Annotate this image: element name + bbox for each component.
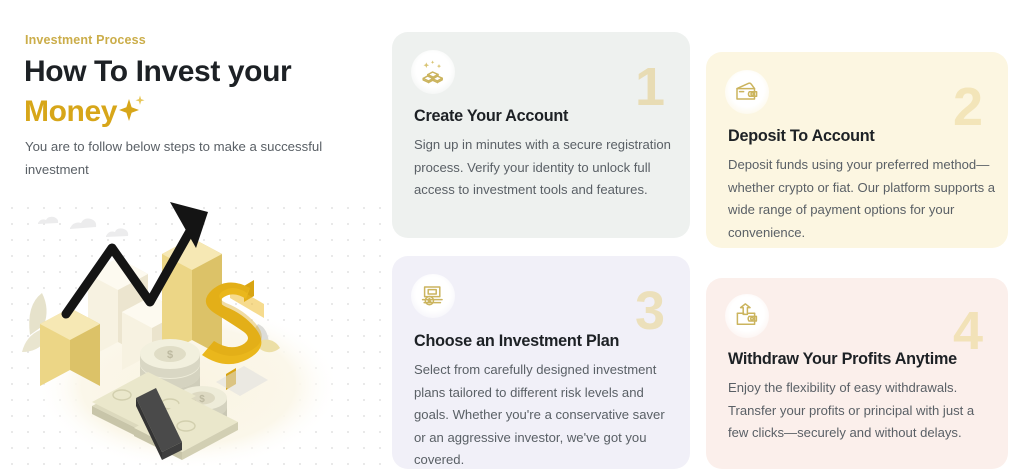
step-card-create-account[interactable]: 1 Create Your Account Sign up in minutes…	[392, 32, 690, 238]
step-number-badge: 2	[953, 80, 982, 134]
card-title: Choose an Investment Plan	[414, 332, 619, 351]
step-card-deposit-to-account[interactable]: 2 Deposit To Account Deposit funds using…	[706, 52, 1008, 248]
card-description: Sign up in minutes with a secure registr…	[414, 134, 672, 202]
card-description: Deposit funds using your preferred metho…	[728, 154, 996, 244]
card-description: Select from carefully designed investmen…	[414, 359, 678, 469]
card-title: Withdraw Your Profits Anytime	[728, 350, 957, 369]
svg-text:$: $	[167, 349, 173, 361]
step-card-withdraw-profits[interactable]: 4 Withdraw Your Profits Anytime Enjoy th…	[706, 278, 1008, 469]
wallet-icon	[725, 70, 769, 114]
step-number-badge: 1	[635, 60, 664, 114]
page-title: How To Invest your Money	[24, 52, 374, 131]
section-intro-column: Investment Process How To Invest your Mo…	[0, 0, 392, 469]
step-number-badge: 4	[953, 304, 982, 358]
headline-line-1: How To Invest your	[24, 55, 291, 88]
section-subcopy: You are to follow below steps to make a …	[25, 136, 325, 181]
cash-coin-icon	[411, 274, 455, 318]
step-card-choose-investment-plan[interactable]: 3 Choose an Investment Plan Select from …	[392, 256, 690, 469]
headline-accent-word: Money	[24, 92, 117, 132]
gold-bars-icon	[411, 50, 455, 94]
sparkle-icon	[116, 99, 142, 123]
card-description: Enjoy the flexibility of easy withdrawal…	[728, 377, 996, 445]
card-title: Create Your Account	[414, 107, 568, 126]
card-title: Deposit To Account	[728, 127, 875, 146]
section-eyebrow-label: Investment Process	[25, 33, 146, 47]
isometric-investment-growth-illustration: $ $	[10, 190, 370, 469]
investment-process-section: Investment Process How To Invest your Mo…	[0, 0, 1024, 469]
wallet-withdraw-icon	[725, 294, 769, 338]
step-number-badge: 3	[635, 284, 664, 338]
